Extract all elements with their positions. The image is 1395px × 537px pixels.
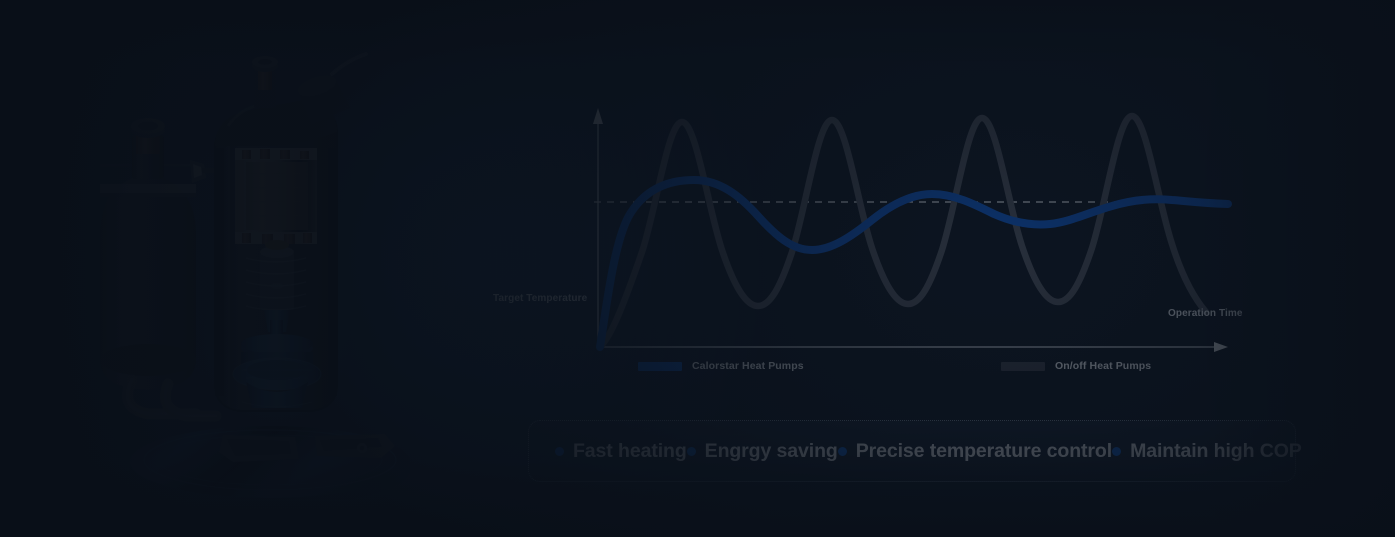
features-bar: Fast heating Engrgy saving Precise tempe… <box>528 420 1296 482</box>
legend-swatch-gray <box>1001 362 1045 371</box>
bullet-dot-icon <box>1112 447 1121 456</box>
compressor-product-image <box>70 30 470 500</box>
page-background: Target Temperature Operation Time Calors… <box>0 0 1395 537</box>
legend-swatch-blue <box>638 362 682 371</box>
feature-item-energy-saving[interactable]: Engrgy saving <box>687 440 838 463</box>
legend-label-onoff: On/off Heat Pumps <box>1055 360 1151 372</box>
legend-item-calorstar[interactable]: Calorstar Heat Pumps <box>638 360 804 372</box>
feature-label: Precise temperature control <box>856 440 1112 463</box>
feature-item-precise-temperature-control[interactable]: Precise temperature control <box>838 440 1112 463</box>
series-calorstar-curve <box>600 180 1228 347</box>
motor-stator-windings <box>235 148 317 244</box>
target-temperature-label: Target Temperature <box>493 293 587 304</box>
feature-item-maintain-high-cop[interactable]: Maintain high COP <box>1112 440 1302 463</box>
accumulator-tank <box>100 118 216 416</box>
chart-legend: Calorstar Heat Pumps On/off Heat Pumps <box>638 360 1198 382</box>
compressor-shell <box>215 54 366 440</box>
bullet-dot-icon <box>555 447 564 456</box>
bullet-dot-icon <box>687 447 696 456</box>
feature-label: Maintain high COP <box>1130 440 1302 463</box>
legend-label-calorstar: Calorstar Heat Pumps <box>692 360 804 372</box>
performance-chart: Target Temperature Operation Time <box>480 100 1270 370</box>
bullet-dot-icon <box>838 447 847 456</box>
operation-time-label: Operation Time <box>1168 308 1243 319</box>
legend-item-onoff[interactable]: On/off Heat Pumps <box>1001 360 1151 372</box>
feature-label: Fast heating <box>573 440 687 463</box>
series-onoff-curve <box>600 116 1206 347</box>
feature-label: Engrgy saving <box>705 440 838 463</box>
feature-item-fast-heating[interactable]: Fast heating <box>555 440 687 463</box>
x-axis <box>598 342 1228 352</box>
